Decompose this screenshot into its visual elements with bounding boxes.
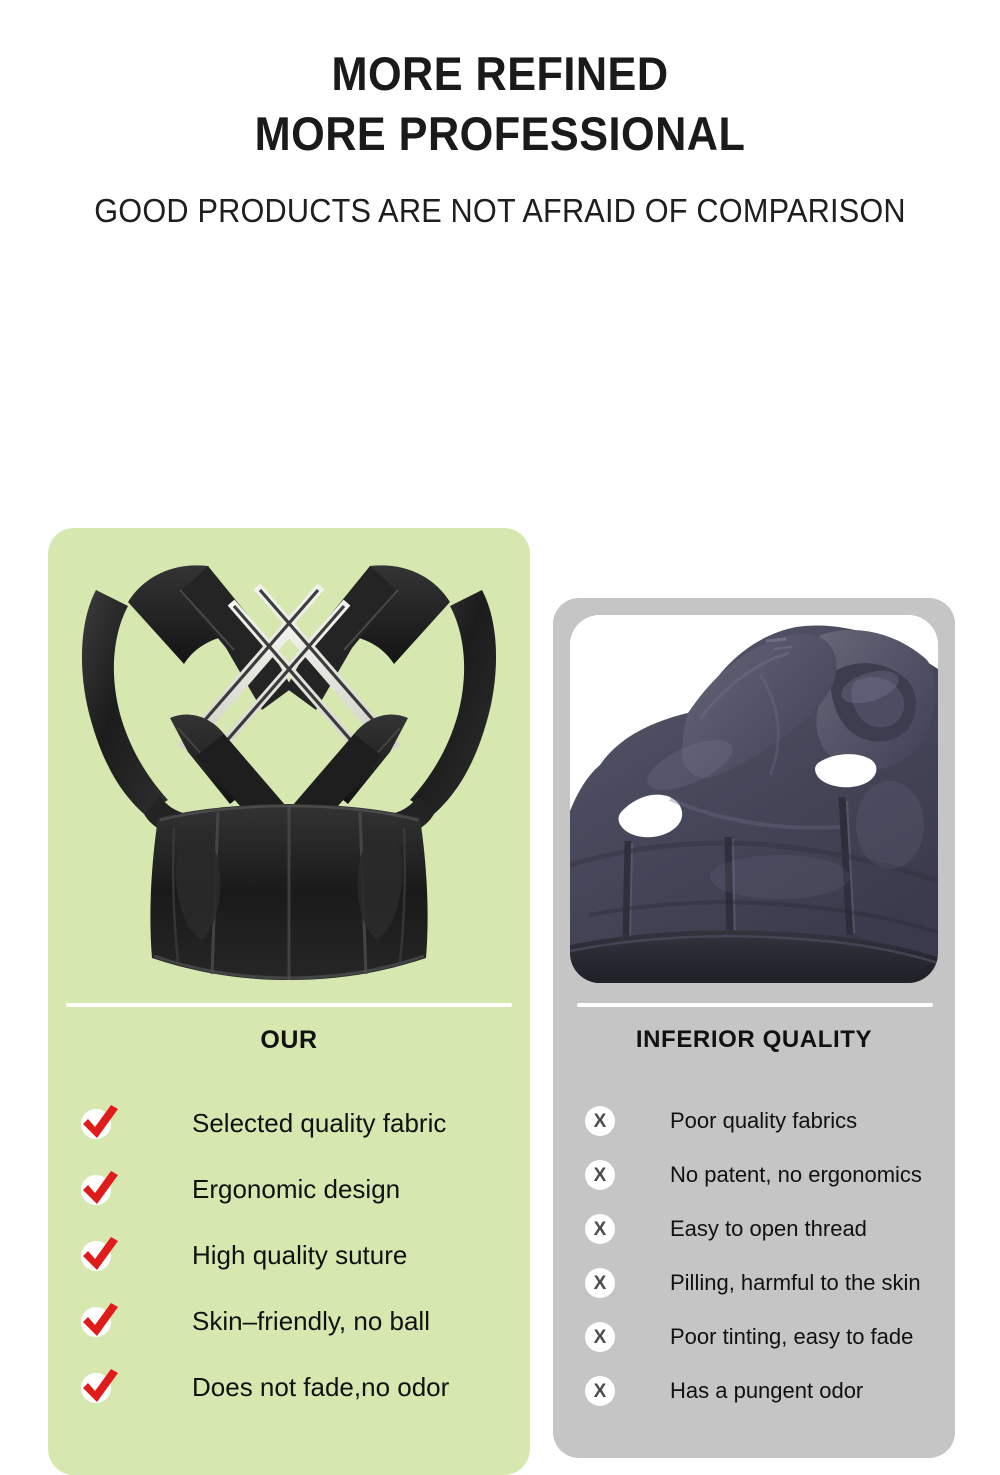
- list-item: Ergonomic design: [78, 1156, 449, 1222]
- header-block: MORE REFINED MORE PROFESSIONAL GOOD PROD…: [0, 0, 1000, 230]
- x-icon: X: [585, 1268, 615, 1298]
- x-icon: X: [585, 1214, 615, 1244]
- subheadline: GOOD PRODUCTS ARE NOT AFRAID OF COMPARIS…: [35, 192, 965, 230]
- posture-corrector-photo: [48, 528, 530, 998]
- list-item-label: Poor quality fabrics: [670, 1108, 857, 1134]
- list-item: High quality suture: [78, 1222, 449, 1288]
- good-product-panel: OUR Selected quality fabric: [48, 528, 530, 1475]
- x-icon: X: [585, 1376, 615, 1406]
- list-item-label: Ergonomic design: [192, 1174, 400, 1205]
- list-item-label: Poor tinting, easy to fade: [670, 1324, 913, 1350]
- list-item-label: High quality suture: [192, 1240, 407, 1271]
- headline-line-2: MORE PROFESSIONAL: [40, 104, 960, 164]
- list-item-label: Skin–friendly, no ball: [192, 1306, 430, 1337]
- good-divider: [66, 1003, 512, 1007]
- check-icon: [78, 1169, 122, 1209]
- check-icon: [78, 1367, 122, 1407]
- list-item-label: Does not fade,no odor: [192, 1372, 449, 1403]
- check-icon: [78, 1103, 122, 1143]
- x-icon: X: [585, 1322, 615, 1352]
- list-item-label: Easy to open thread: [670, 1216, 867, 1242]
- inferior-product-panel: INFERIOR QUALITY X Poor quality fabrics …: [553, 598, 955, 1458]
- list-item-label: Selected quality fabric: [192, 1108, 446, 1139]
- inferior-feature-list: X Poor quality fabrics X No patent, no e…: [585, 1094, 922, 1418]
- bad-divider: [577, 1003, 933, 1007]
- list-item: Does not fade,no odor: [78, 1354, 449, 1420]
- good-feature-list: Selected quality fabric Ergonomic design: [78, 1090, 449, 1420]
- list-item-label: Has a pungent odor: [670, 1378, 863, 1404]
- list-item: X Poor quality fabrics: [585, 1094, 922, 1148]
- inferior-fabric-photo: [570, 615, 938, 983]
- headline-line-1: MORE REFINED: [40, 44, 960, 104]
- bad-column-title: INFERIOR QUALITY: [553, 1026, 955, 1054]
- list-item-label: Pilling, harmful to the skin: [670, 1270, 921, 1296]
- list-item: X No patent, no ergonomics: [585, 1148, 922, 1202]
- check-icon: [78, 1235, 122, 1275]
- list-item: Skin–friendly, no ball: [78, 1288, 449, 1354]
- list-item: X Pilling, harmful to the skin: [585, 1256, 922, 1310]
- list-item-label: No patent, no ergonomics: [670, 1162, 922, 1188]
- list-item: X Has a pungent odor: [585, 1364, 922, 1418]
- comparison-panels: OUR Selected quality fabric: [0, 230, 1000, 1220]
- check-icon: [78, 1301, 122, 1341]
- list-item: X Poor tinting, easy to fade: [585, 1310, 922, 1364]
- list-item: X Easy to open thread: [585, 1202, 922, 1256]
- x-icon: X: [585, 1106, 615, 1136]
- x-icon: X: [585, 1160, 615, 1190]
- list-item: Selected quality fabric: [78, 1090, 449, 1156]
- good-column-title: OUR: [48, 1026, 530, 1055]
